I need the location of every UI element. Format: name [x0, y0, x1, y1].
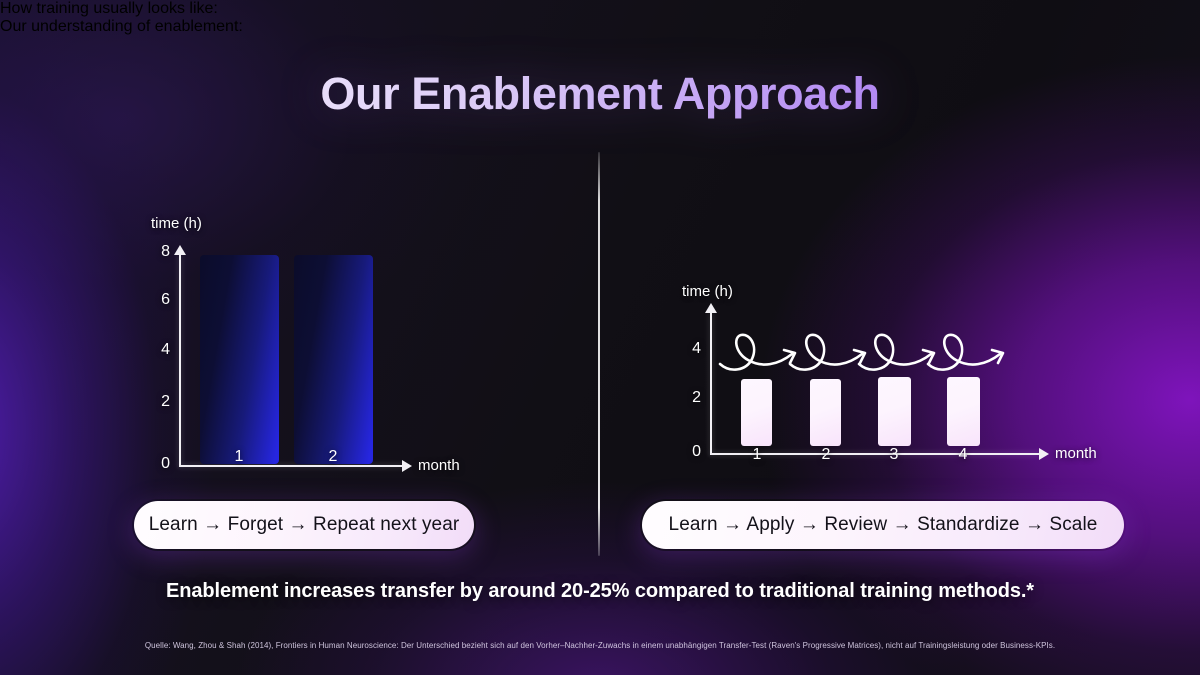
y-tick-right-0: 0	[679, 443, 701, 461]
column-divider	[598, 152, 600, 556]
x-axis-arrow-left	[402, 460, 412, 472]
left-column-heading: How training usually looks like:	[0, 0, 1200, 18]
y-tick-left-2: 2	[148, 393, 170, 411]
slide-canvas: Our Enablement Approach How training usu…	[0, 0, 1200, 675]
y-axis-line-left	[179, 255, 181, 467]
y-tick-left-8: 8	[148, 243, 170, 261]
x-axis-label-right: month	[1055, 445, 1097, 462]
bar-right-month-1	[740, 378, 773, 447]
right-column-heading: Our understanding of enablement:	[0, 18, 1200, 36]
x-tick-right-2: 2	[815, 446, 837, 464]
y-axis-arrow-left	[174, 245, 186, 255]
x-tick-left-1: 1	[228, 448, 250, 466]
y-tick-left-4: 4	[148, 341, 170, 359]
page-title: Our Enablement Approach	[0, 68, 1200, 120]
y-axis-label-right: time (h)	[682, 283, 733, 300]
x-tick-right-1: 1	[746, 446, 768, 464]
x-tick-right-4: 4	[952, 446, 974, 464]
bar-left-month-1	[199, 254, 280, 465]
key-statement: Enablement increases transfer by around …	[0, 580, 1200, 603]
x-tick-right-3: 3	[883, 446, 905, 464]
bar-right-month-4	[946, 376, 981, 447]
bar-right-month-2	[809, 378, 842, 447]
pill-enablement-cycle[interactable]: Learn → Apply → Review → Standardize → S…	[640, 499, 1126, 551]
y-tick-right-2: 2	[679, 389, 701, 407]
x-axis-arrow-right	[1039, 448, 1049, 460]
y-tick-left-0: 0	[148, 455, 170, 473]
y-axis-line-right	[710, 313, 712, 455]
x-axis-line-left	[179, 465, 403, 467]
chart-traditional-training: time (h) month 8 6 4 2 0 1 2	[140, 210, 500, 480]
y-axis-label-left: time (h)	[151, 215, 202, 232]
source-footnote: Quelle: Wang, Zhou & Shah (2014), Fronti…	[0, 641, 1200, 650]
bar-right-month-3	[877, 376, 912, 447]
y-tick-right-4: 4	[679, 340, 701, 358]
y-tick-left-6: 6	[148, 291, 170, 309]
chart-enablement-approach: time (h) month 4 2 0	[670, 278, 1100, 478]
x-axis-label-left: month	[418, 457, 460, 474]
pill-traditional-cycle[interactable]: Learn → Forget → Repeat next year	[132, 499, 476, 551]
x-tick-left-2: 2	[322, 448, 344, 466]
loop-arrow-icon-4	[924, 326, 1022, 374]
bar-left-month-2	[293, 254, 374, 465]
y-axis-arrow-right	[705, 303, 717, 313]
